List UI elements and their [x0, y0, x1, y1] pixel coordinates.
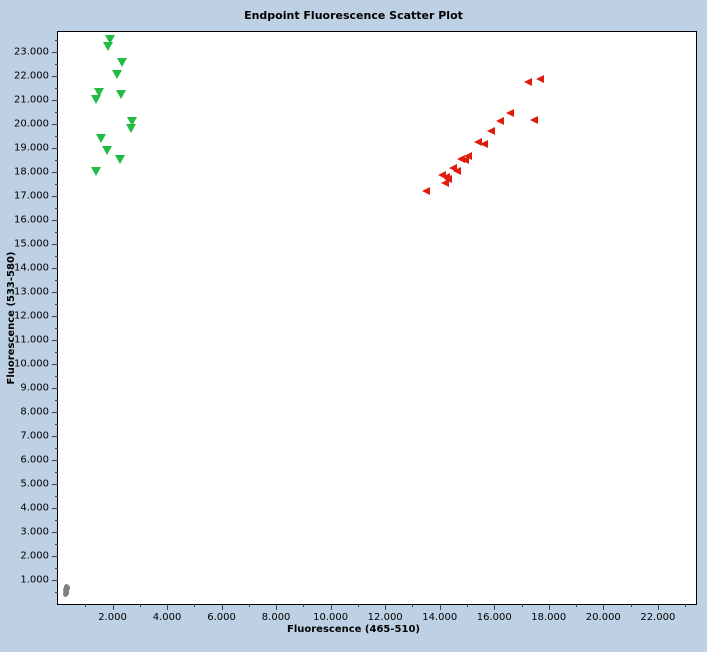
y-axis-tick-label: 18.000: [14, 167, 49, 178]
y-axis-tick-label: 4.000: [20, 503, 49, 514]
y-axis-tick-minor: [55, 592, 58, 593]
y-axis-tick-minor: [55, 64, 58, 65]
x-axis-tick-label: 6.000: [207, 612, 236, 623]
y-axis-tick-minor: [55, 544, 58, 545]
x-axis-tick-minor: [522, 604, 523, 607]
y-axis-tick-minor: [55, 352, 58, 353]
x-axis-tick-label: 12.000: [368, 612, 403, 623]
y-axis-tick-label: 1.000: [20, 575, 49, 586]
x-axis-tick-minor: [412, 604, 413, 607]
x-axis-tick-label: 22.000: [640, 612, 675, 623]
x-axis-tick-label: 2.000: [98, 612, 127, 623]
x-axis-tick: [494, 604, 495, 610]
y-axis-tick-minor: [55, 232, 58, 233]
x-axis-tick: [276, 604, 277, 610]
y-axis-tick-label: 15.000: [14, 239, 49, 250]
y-axis-tick-minor: [55, 400, 58, 401]
data-point[interactable]: [91, 167, 101, 176]
y-axis-tick: [52, 460, 58, 461]
x-axis-tick-label: 18.000: [531, 612, 566, 623]
x-axis-tick: [331, 604, 332, 610]
y-axis-tick: [52, 292, 58, 293]
y-axis-tick: [52, 580, 58, 581]
y-axis-tick: [52, 340, 58, 341]
x-axis-tick: [113, 604, 114, 610]
y-axis-tick-minor: [55, 304, 58, 305]
data-point[interactable]: [441, 179, 449, 187]
y-axis-tick-label: 19.000: [14, 143, 49, 154]
data-point[interactable]: [102, 146, 112, 155]
y-axis-tick-label: 3.000: [20, 527, 49, 538]
data-point[interactable]: [112, 70, 122, 79]
data-point[interactable]: [63, 591, 68, 597]
x-axis-tick-minor: [631, 604, 632, 607]
y-axis-tick: [52, 484, 58, 485]
x-axis-tick-label: 8.000: [262, 612, 291, 623]
y-axis-tick-minor: [55, 160, 58, 161]
y-axis-tick-minor: [55, 568, 58, 569]
x-axis-tick-minor: [303, 604, 304, 607]
data-point[interactable]: [126, 124, 136, 133]
y-axis-tick-label: 7.000: [20, 431, 49, 442]
y-axis-tick-label: 21.000: [14, 95, 49, 106]
scatter-plot-panel: Endpoint Fluorescence Scatter Plot 1.000…: [0, 0, 707, 652]
y-axis-tick-label: 11.000: [14, 335, 49, 346]
x-axis-tick-minor: [140, 604, 141, 607]
y-axis-tick-label: 6.000: [20, 455, 49, 466]
y-axis-tick: [52, 316, 58, 317]
y-axis-tick-minor: [55, 448, 58, 449]
y-axis-tick-label: 8.000: [20, 407, 49, 418]
y-axis-tick: [52, 268, 58, 269]
y-axis-tick-minor: [55, 376, 58, 377]
x-axis-tick: [603, 604, 604, 610]
y-axis-tick-label: 17.000: [14, 191, 49, 202]
y-axis-tick-minor: [55, 328, 58, 329]
x-axis-tick-label: 4.000: [153, 612, 182, 623]
x-axis-tick-minor: [249, 604, 250, 607]
data-point[interactable]: [103, 42, 113, 51]
x-axis-tick-minor: [194, 604, 195, 607]
x-axis-tick-label: 10.000: [313, 612, 348, 623]
y-axis-tick-minor: [55, 88, 58, 89]
data-point[interactable]: [115, 155, 125, 164]
y-axis-tick: [52, 244, 58, 245]
plot-canvas: [58, 32, 696, 604]
y-axis-tick: [52, 388, 58, 389]
data-point[interactable]: [536, 75, 544, 83]
y-axis-tick-label: 10.000: [14, 359, 49, 370]
data-point[interactable]: [461, 156, 469, 164]
x-axis-tick-label: 20.000: [586, 612, 621, 623]
y-axis-tick: [52, 100, 58, 101]
y-axis-tick: [52, 172, 58, 173]
x-axis-title: Fluorescence (465-510): [0, 624, 707, 635]
data-point[interactable]: [506, 109, 514, 117]
y-axis-tick-minor: [55, 112, 58, 113]
y-axis-tick: [52, 220, 58, 221]
y-axis-tick: [52, 508, 58, 509]
y-axis-tick: [52, 76, 58, 77]
y-axis-tick-label: 20.000: [14, 119, 49, 130]
y-axis-tick-label: 9.000: [20, 383, 49, 394]
y-axis-tick-label: 13.000: [14, 287, 49, 298]
x-axis-tick-minor: [685, 604, 686, 607]
y-axis-tick-minor: [55, 472, 58, 473]
y-axis-tick-label: 23.000: [14, 47, 49, 58]
y-axis-tick-minor: [55, 136, 58, 137]
y-axis-tick-minor: [55, 184, 58, 185]
y-axis-tick: [52, 52, 58, 53]
data-point[interactable]: [116, 90, 126, 99]
y-axis-tick: [52, 364, 58, 365]
x-axis-tick-label: 14.000: [422, 612, 457, 623]
y-axis-tick: [52, 412, 58, 413]
x-axis-tick: [222, 604, 223, 610]
data-point[interactable]: [524, 78, 532, 86]
y-axis-tick-minor: [55, 256, 58, 257]
x-axis-tick: [167, 604, 168, 610]
y-axis-tick: [52, 124, 58, 125]
y-axis-tick: [52, 196, 58, 197]
y-axis-tick-minor: [55, 424, 58, 425]
x-axis-tick: [385, 604, 386, 610]
y-axis-tick: [52, 532, 58, 533]
data-point[interactable]: [91, 95, 101, 104]
data-point[interactable]: [422, 187, 430, 195]
x-axis-tick: [658, 604, 659, 610]
data-point[interactable]: [496, 117, 504, 125]
y-axis-title: Fluorescence (533-580): [6, 252, 17, 385]
y-axis-tick-label: 5.000: [20, 479, 49, 490]
x-axis-tick-minor: [85, 604, 86, 607]
y-axis-tick-label: 22.000: [14, 71, 49, 82]
y-axis-tick-minor: [55, 496, 58, 497]
plot-area[interactable]: 1.0002.0003.0004.0005.0006.0007.0008.000…: [57, 31, 697, 605]
y-axis-tick-label: 12.000: [14, 311, 49, 322]
data-point[interactable]: [480, 140, 488, 148]
data-point[interactable]: [117, 58, 127, 67]
y-axis-tick-minor: [55, 520, 58, 521]
data-point[interactable]: [96, 134, 106, 143]
x-axis-tick-minor: [358, 604, 359, 607]
y-axis-tick: [52, 436, 58, 437]
y-axis-tick-minor: [55, 40, 58, 41]
y-axis-tick-label: 2.000: [20, 551, 49, 562]
y-axis-tick-minor: [55, 208, 58, 209]
y-axis-tick-minor: [55, 280, 58, 281]
data-point[interactable]: [530, 116, 538, 124]
y-axis-tick-label: 14.000: [14, 263, 49, 274]
chart-title: Endpoint Fluorescence Scatter Plot: [0, 9, 707, 22]
y-axis-tick-label: 16.000: [14, 215, 49, 226]
x-axis-tick: [440, 604, 441, 610]
data-point[interactable]: [487, 127, 495, 135]
x-axis-tick-label: 16.000: [477, 612, 512, 623]
y-axis-tick: [52, 556, 58, 557]
x-axis-tick: [549, 604, 550, 610]
data-point[interactable]: [453, 167, 461, 175]
x-axis-tick-minor: [467, 604, 468, 607]
y-axis-tick: [52, 148, 58, 149]
x-axis-tick-minor: [576, 604, 577, 607]
